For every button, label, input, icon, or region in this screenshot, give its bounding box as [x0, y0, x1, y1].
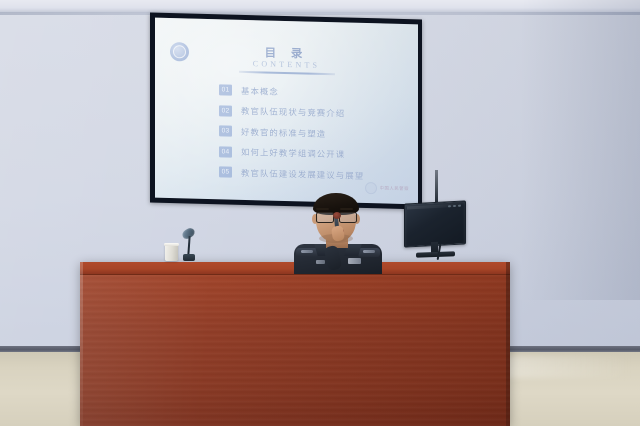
list-item: 03 好教官的标准与塑造: [219, 122, 404, 144]
toc-item-label: 教官队伍建设发展建议与展望: [241, 167, 364, 182]
podium-right-edge: [506, 262, 510, 426]
toc-number-badge: 04: [219, 146, 232, 157]
speaker-eyebrow: [340, 208, 353, 210]
uniform-name-badge: [348, 258, 361, 264]
projection-screen-surface: 目 录 CONTENTS 01 基本概念 02 教官队伍现状与竞赛介绍 03 好…: [155, 18, 418, 205]
eyeglass-lens: [316, 212, 334, 223]
watermark-emblem-icon: [365, 182, 377, 194]
wooden-podium: [80, 262, 510, 426]
toc-item-label: 好教官的标准与塑造: [241, 126, 326, 140]
desk-microphone: [176, 229, 202, 263]
monitor-stand-base: [416, 251, 455, 257]
speaker-eyebrow: [316, 208, 329, 210]
toc-item-label: 如何上好教学组调公开课: [241, 146, 345, 161]
list-item: 02 教官队伍现状与竞赛介绍: [219, 102, 404, 124]
wall-shadow: [520, 0, 640, 300]
microphone-neck: [187, 236, 191, 255]
toc-item-label: 基本概念: [241, 84, 279, 97]
monitor-support-pole: [435, 170, 438, 202]
list-item: 01 基本概念: [219, 81, 404, 103]
title-underline: [239, 71, 335, 76]
microphone-base: [183, 254, 195, 261]
presentation-slide: 目 录 CONTENTS 01 基本概念 02 教官队伍现状与竞赛介绍 03 好…: [155, 18, 418, 205]
uniformed-speaker: [292, 196, 384, 266]
table-of-contents: 01 基本概念 02 教官队伍现状与竞赛介绍 03 好教官的标准与塑造 04 如…: [219, 81, 404, 189]
eyeglass-lens: [339, 212, 357, 223]
speaker-hand: [331, 225, 345, 242]
projection-screen: 目 录 CONTENTS 01 基本概念 02 教官队伍现状与竞赛介绍 03 好…: [150, 13, 422, 210]
toc-number-badge: 05: [219, 167, 232, 178]
toc-number-badge: 02: [219, 105, 232, 116]
toc-number-badge: 03: [219, 125, 232, 136]
handheld-microphone-head: [333, 212, 341, 219]
monitor-screen: [404, 200, 466, 247]
slide-watermark: 中国人民警察: [365, 182, 409, 195]
watermark-text: 中国人民警察: [380, 186, 409, 192]
toc-number-badge: 01: [219, 84, 232, 95]
podium-left-edge: [80, 262, 83, 426]
uniform-epaulet: [301, 250, 313, 253]
toc-item-label: 教官队伍现状与竞赛介绍: [241, 105, 345, 120]
podium-sheen: [80, 275, 510, 426]
lecture-hall-photo: 目 录 CONTENTS 01 基本概念 02 教官队伍现状与竞赛介绍 03 好…: [0, 0, 640, 426]
list-item: 04 如何上好教学组调公开课: [219, 143, 404, 165]
uniform-epaulet: [363, 250, 375, 253]
lcd-monitor: [404, 198, 470, 264]
uniform-insignia: [316, 260, 325, 264]
